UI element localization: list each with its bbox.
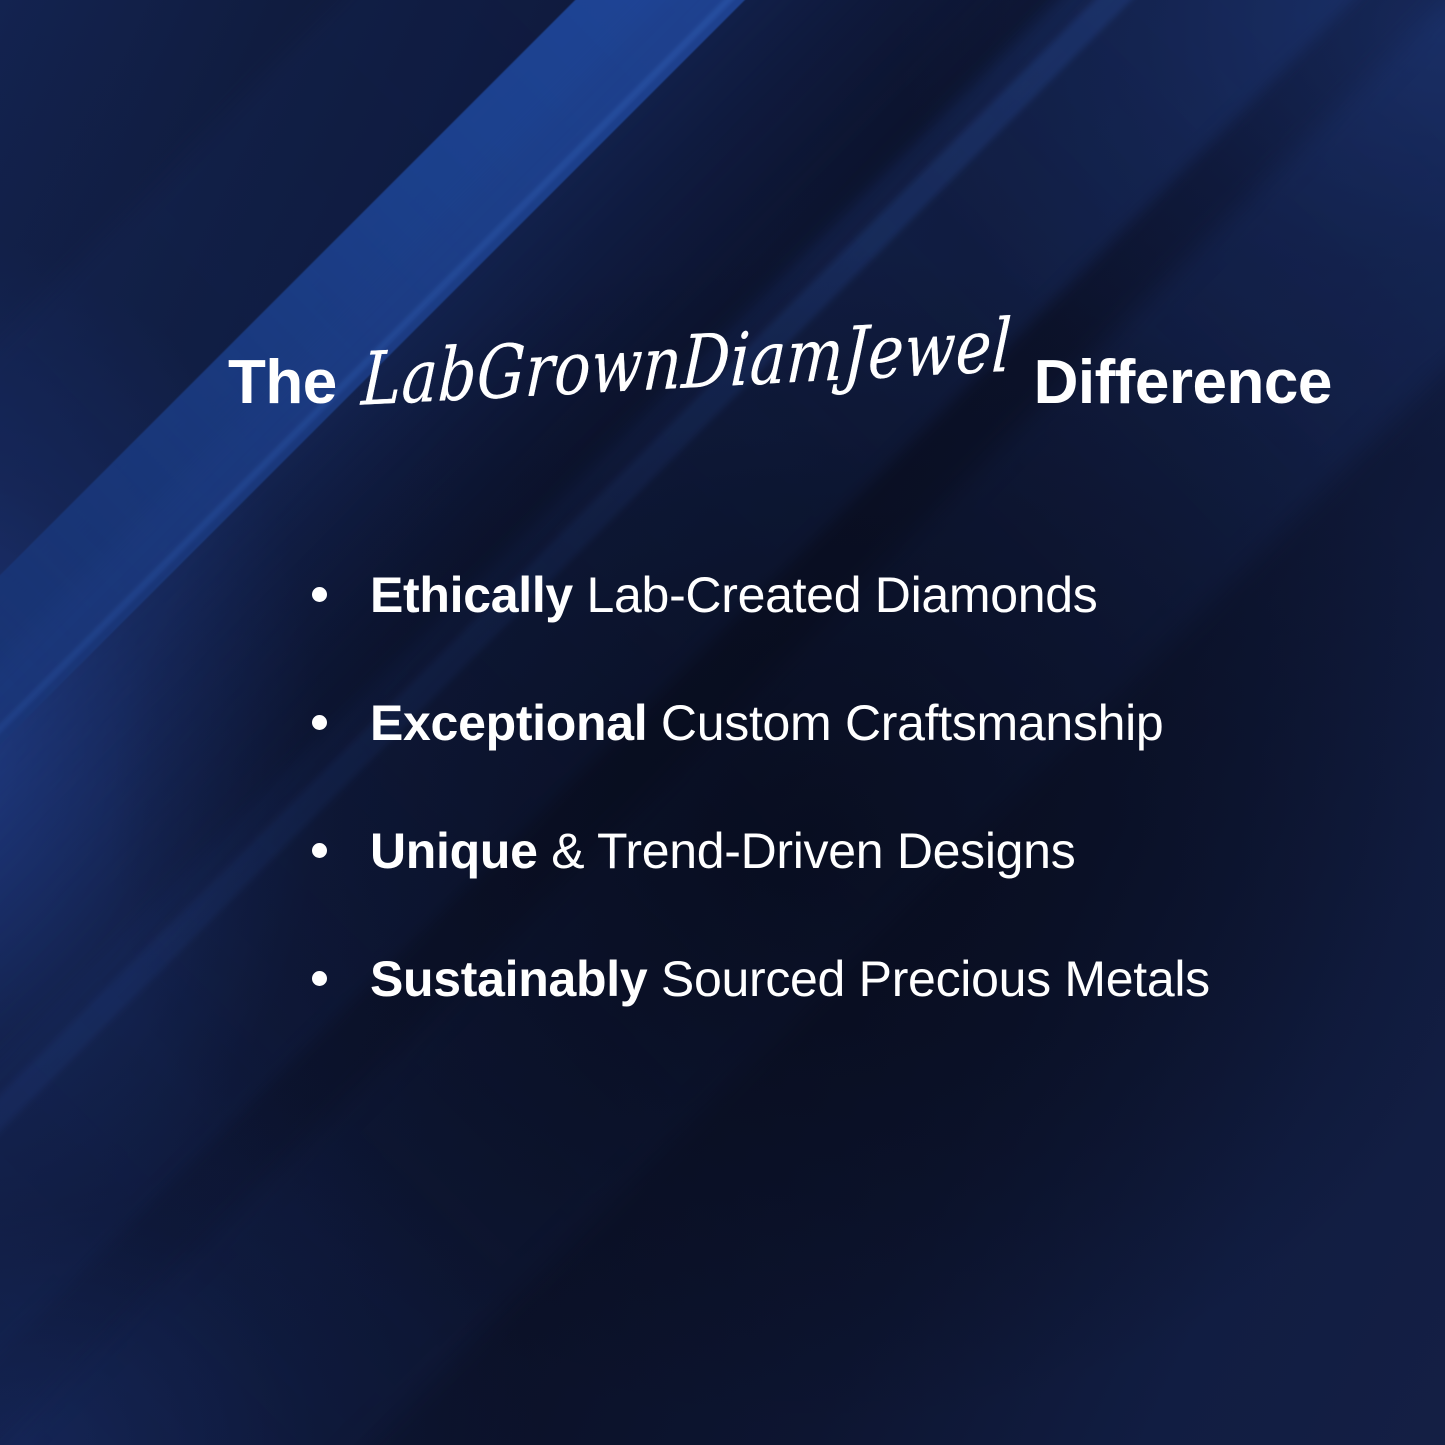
list-item-lead: Exceptional (370, 695, 647, 751)
bullet-dot-icon (312, 715, 327, 730)
title-prefix: The (228, 352, 337, 414)
bullet-dot-icon (312, 587, 327, 602)
bullet-dot-icon (312, 971, 327, 986)
list-item: Ethically Lab-Created Diamonds (312, 570, 1402, 698)
list-item-lead: Sustainably (370, 951, 647, 1007)
list-item-rest: Lab-Created Diamonds (573, 567, 1098, 623)
list-item-text: Unique & Trend-Driven Designs (370, 826, 1075, 876)
benefits-list: Ethically Lab-Created Diamonds Exception… (312, 570, 1402, 1082)
page-title: The LabGrownDiamJewel Difference (228, 352, 1332, 414)
list-item: Exceptional Custom Craftsmanship (312, 698, 1402, 826)
list-item-text: Sustainably Sourced Precious Metals (370, 954, 1210, 1004)
promo-graphic: The LabGrownDiamJewel Difference Ethical… (0, 0, 1445, 1445)
brand-wordmark: LabGrownDiamJewel (360, 309, 1014, 417)
content-layer: The LabGrownDiamJewel Difference Ethical… (0, 0, 1445, 1445)
list-item-text: Ethically Lab-Created Diamonds (370, 570, 1098, 620)
list-item: Sustainably Sourced Precious Metals (312, 954, 1402, 1082)
list-item-rest: Custom Craftsmanship (647, 695, 1163, 751)
bullet-dot-icon (312, 843, 327, 858)
list-item-lead: Unique (370, 823, 538, 879)
list-item-rest: & Trend-Driven Designs (538, 823, 1076, 879)
title-suffix: Difference (1034, 352, 1332, 414)
list-item-text: Exceptional Custom Craftsmanship (370, 698, 1163, 748)
list-item-rest: Sourced Precious Metals (647, 951, 1210, 1007)
list-item: Unique & Trend-Driven Designs (312, 826, 1402, 954)
list-item-lead: Ethically (370, 567, 573, 623)
